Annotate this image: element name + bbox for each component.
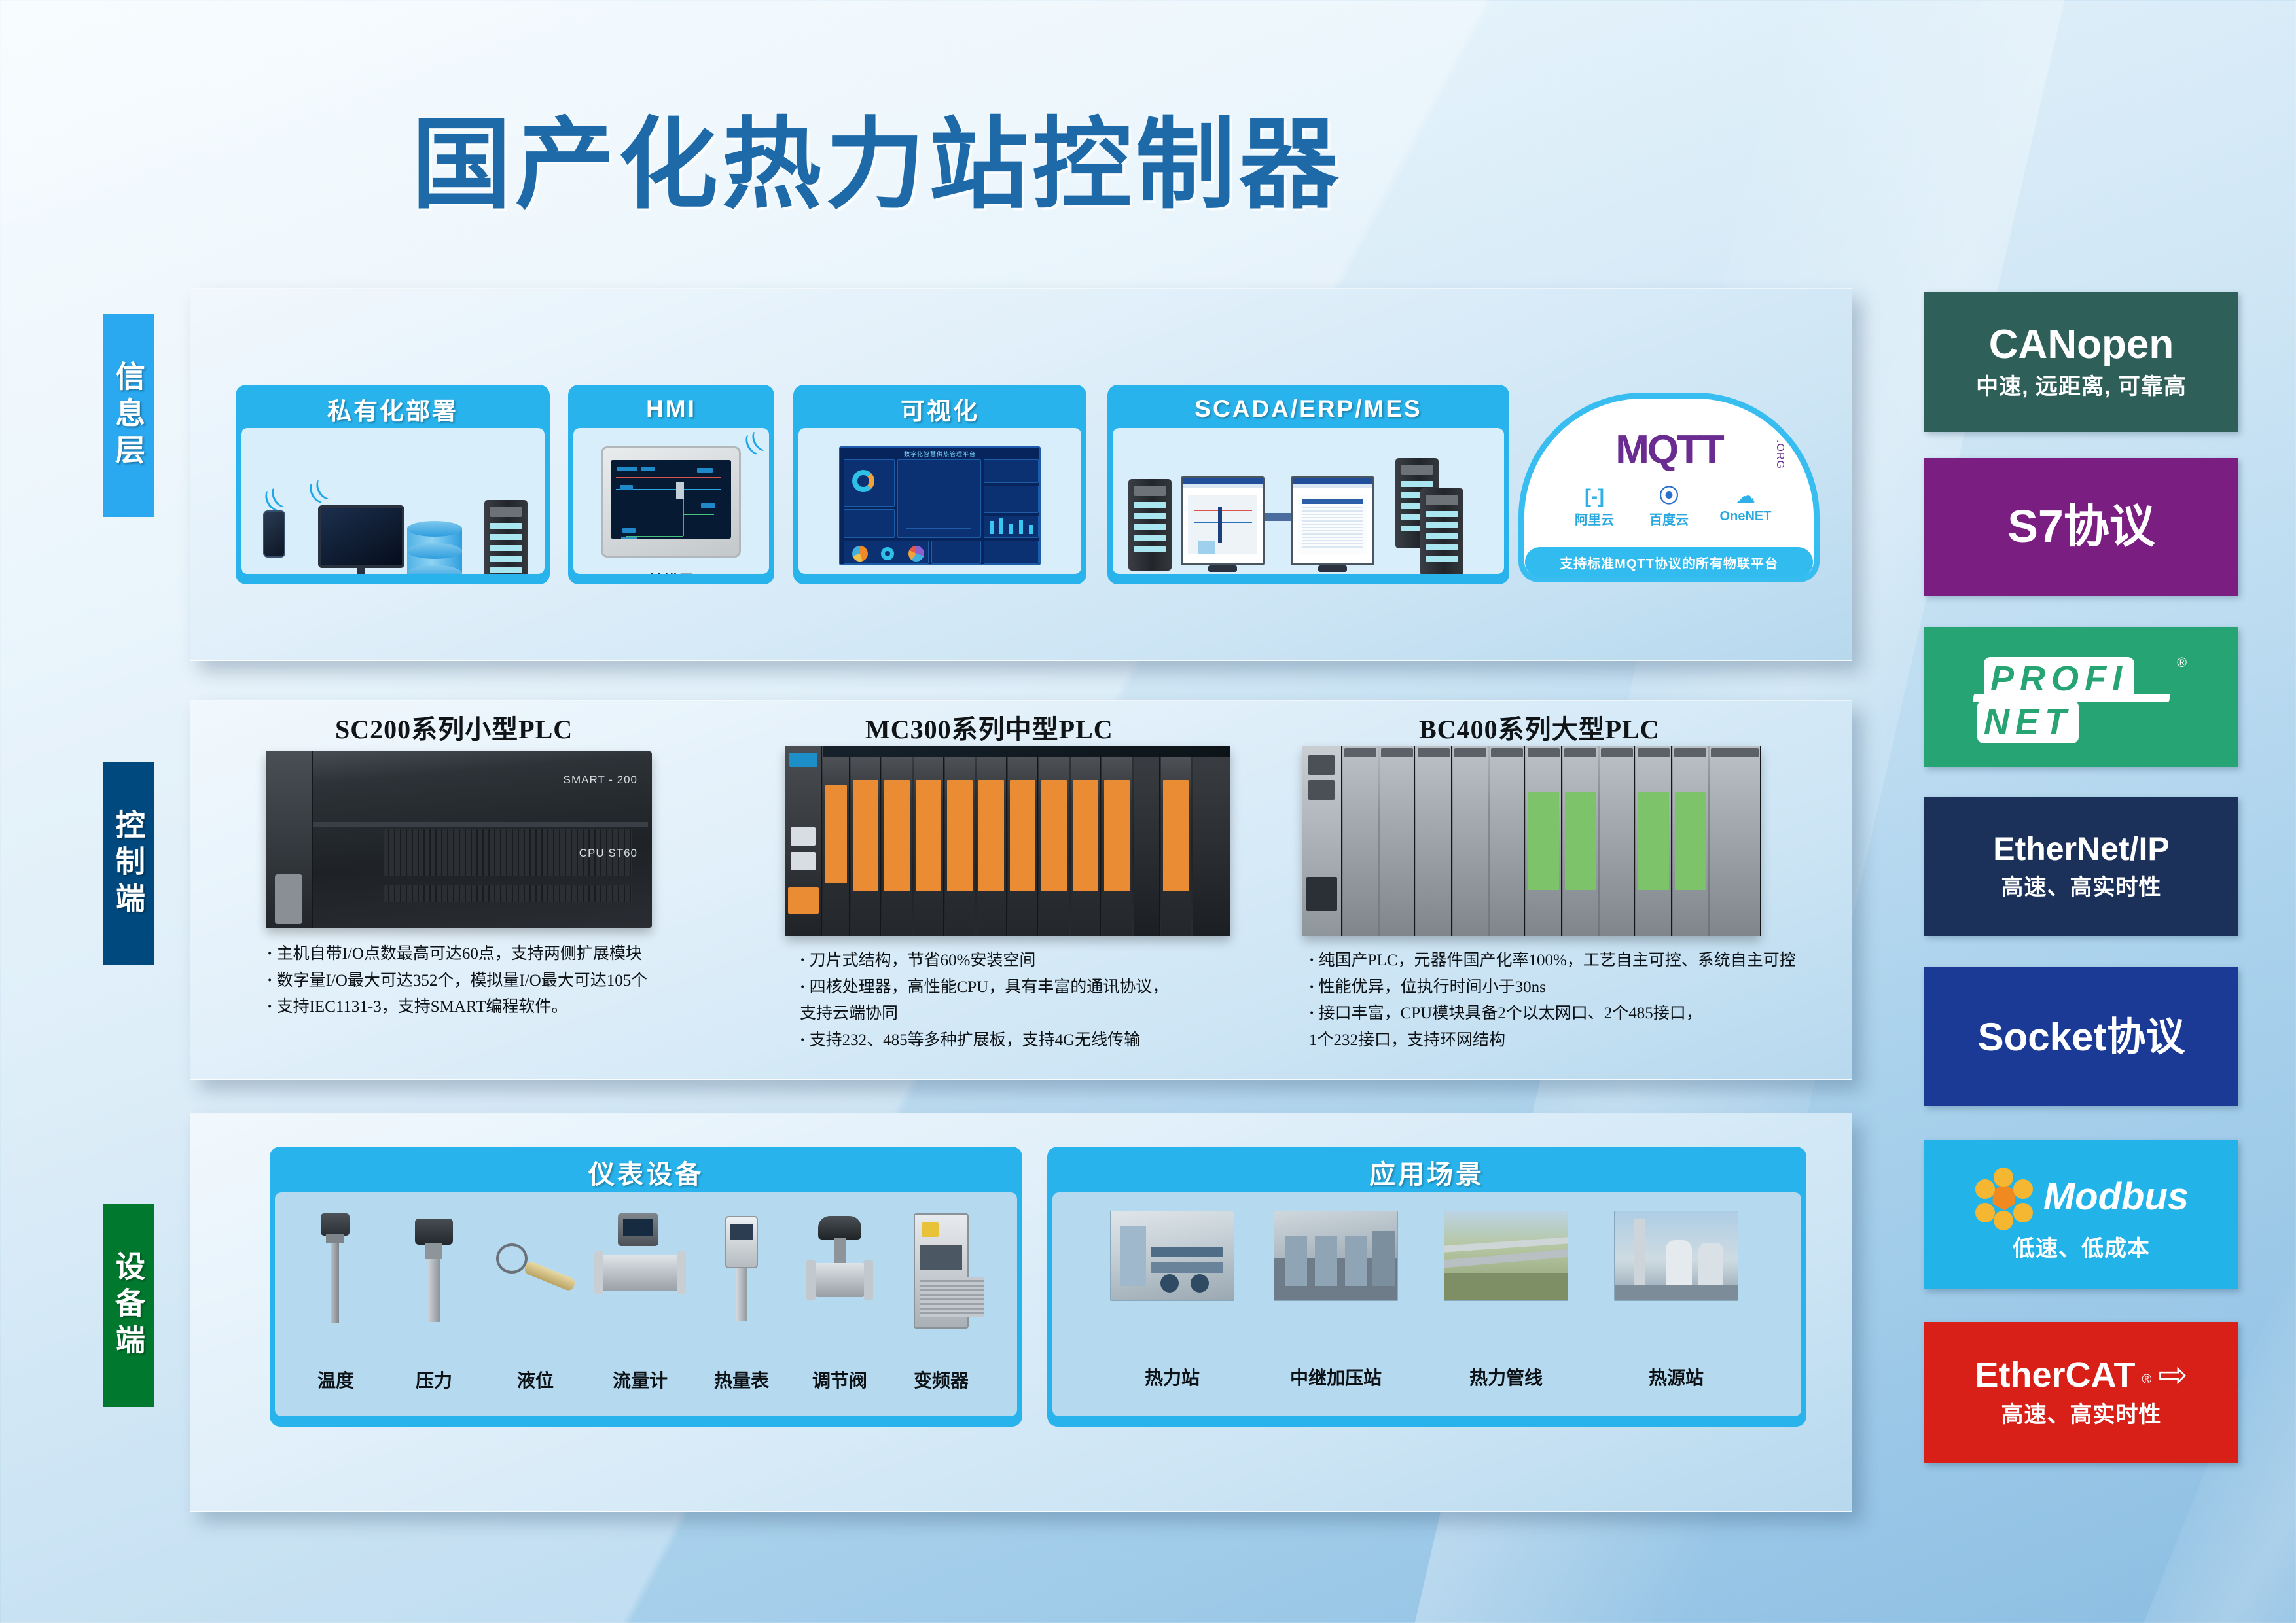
badge-ethercat[interactable]: EtherCAT ® ⇨ 高速、高实时性 [1924,1322,2238,1463]
instrument-label: 热量表 [692,1366,791,1393]
aliyun-platform: [-] 阿里云 [1560,487,1628,528]
mqtt-org-text: .ORG [1774,440,1785,469]
arrow-right-icon: ⇨ [2158,1363,2187,1388]
hmi-screen [611,460,731,539]
modbus-node-icon [1974,1168,2034,1228]
instrument-control-valve: 调节阀 [791,1207,889,1403]
onenet-platform: ☁ OneNET [1710,487,1782,524]
visualization-dashboard: 数字化智慧供热管理平台 [839,446,1041,565]
scenario-photo [1614,1211,1738,1301]
card-visualization-body: 数字化智慧供热管理平台 [798,428,1081,574]
plc-mark-cpu: CPU ST60 [579,847,637,860]
wifi-icon: (( [741,430,764,457]
plc-device-mc300 [785,746,1230,936]
instrument-pressure: 压力 [385,1207,483,1403]
badge-ethercat-sub: 高速、高实时性 [2001,1397,2162,1429]
card-hmi-title: HMI [573,390,769,428]
server-rack-icon [1128,479,1172,571]
instrument-inverter: 变频器 [889,1207,994,1403]
card-scada-erp-mes-title: SCADA/ERP/MES [1113,390,1504,428]
badge-etherip[interactable]: EtherNet/IP 高速、高实时性 [1924,797,2238,936]
badge-modbus[interactable]: Modbus 低速、低成本 [1924,1140,2238,1289]
bullet: 性能优异，位执行时间小于30ns [1309,974,1826,1001]
bullet: 纯国产PLC，元器件国产化率100%，工艺自主可控、系统自主可控 [1309,948,1826,974]
card-private-deployment-title: 私有化部署 [241,390,545,428]
scenario-label: 热力管线 [1431,1364,1581,1390]
plc-title-mc300: MC300系列中型PLC [865,708,1113,746]
scenario-label: 中继加压站 [1261,1364,1411,1390]
scenario-heating-pipeline: 热力管线 [1431,1211,1581,1400]
page-title: 国产化热力站控制器 [0,84,1754,228]
instrument-temperature: 温度 [287,1207,385,1403]
badge-ethercat-logo: EtherCAT ® ⇨ [1975,1357,2187,1394]
badge-s7[interactable]: S7协议 [1924,458,2238,596]
registered-mark-icon: ® [2142,1372,2152,1394]
bullet-continuation: 支持云端协同 [800,1001,1258,1027]
instrument-label: 调节阀 [791,1366,889,1393]
panel-instruments-body: 温度 压力 液位 流量计 热量表 [275,1192,1017,1416]
monitor-stand [1318,565,1347,572]
instrument-label: 温度 [287,1366,385,1393]
monitor-stand [1208,565,1237,572]
scenario-heat-source-station: 热源站 [1601,1211,1751,1400]
wifi-icon: (( [260,486,283,513]
bullet: 主机自带I/O点数最高可达60点，支持两侧扩展模块 [267,941,699,968]
scenario-photo [1444,1211,1568,1301]
scenario-label: 热源站 [1601,1364,1751,1390]
panel-scenarios-title: 应用场景 [1052,1152,1801,1192]
monitor-device-icon [318,505,404,568]
mqtt-cloud[interactable]: MQTT .ORG [-] 阿里云 ⦿ 百度云 ☁ OneNET 支持标准MQT… [1518,393,1820,582]
database-icon [407,521,462,574]
hmi-touch-panel [601,446,741,558]
badge-canopen-sub: 中速, 远距离, 可靠高 [1976,368,2187,401]
badge-modbus-sub: 低速、低成本 [2013,1230,2150,1262]
panel-instruments-title: 仪表设备 [275,1152,1017,1192]
wifi-icon: (( [304,478,328,505]
instrument-label: 液位 [483,1366,588,1393]
layer-tab-device[interactable]: 设备端 [103,1204,154,1407]
server-rack-icon [484,500,528,574]
bullet: 支持232、485等多种扩展板，支持4G无线传输 [800,1027,1258,1054]
server-rack-icon [1420,488,1463,574]
card-visualization-title: 可视化 [798,390,1081,428]
hmi-caption: 触摸屏 [573,568,769,574]
connector-cable [1265,513,1291,521]
plc-device-sc200: SMART - 200 CPU ST60 [266,751,652,928]
badge-modbus-logo: Modbus [1974,1168,2189,1228]
badge-s7-logo: S7协议 [2007,503,2155,551]
badge-etherip-sub: 高速、高实时性 [2001,869,2162,901]
card-visualization[interactable]: 可视化 数字化智慧供热管理平台 [793,385,1086,584]
instrument-label: 压力 [385,1366,483,1393]
remote-monitor [1291,476,1374,565]
badge-canopen[interactable]: CANopen 中速, 远距离, 可靠高 [1924,292,2238,432]
badge-profinet-logo: PROFI ® NET [1973,648,2189,746]
card-private-deployment-body: (( (( 数据库 [241,428,545,574]
badge-etherip-logo: EtherNet/IP [1993,832,2170,866]
plc-mark-smart200: SMART - 200 [564,774,637,787]
panel-scenarios-body: 热力站 中继加压站 热力管线 [1052,1192,1801,1416]
card-private-deployment[interactable]: 私有化部署 (( (( 数据库 [236,385,550,584]
scenario-heating-station: 热力站 [1103,1211,1241,1400]
card-scada-erp-mes-body: SCADA 远程数据监控 ERP/MES [1113,428,1504,574]
plc-device-bc400 [1302,746,1761,936]
scenario-photo [1110,1211,1234,1301]
card-hmi[interactable]: HMI (( 触摸屏 [568,385,774,584]
scada-monitor [1181,476,1265,565]
bullet: 支持IEC1131-3，支持SMART编程软件。 [267,994,699,1021]
dashboard-title: 数字化智慧供热管理平台 [840,448,1039,458]
bullet-continuation: 1个232接口，支持环网结构 [1309,1027,1826,1054]
bullet: 数字量I/O最大可达352个，模拟量I/O最大可达105个 [267,968,699,995]
card-hmi-body: (( 触摸屏 [573,428,769,574]
instrument-flowmeter: 流量计 [588,1207,692,1403]
instrument-heat-meter: 热量表 [692,1207,791,1403]
plc-bullets-mc300: 刀片式结构，节省60%安装空间 四核处理器，高性能CPU，具有丰富的通讯协议， … [800,948,1258,1054]
card-scada-erp-mes[interactable]: SCADA/ERP/MES SCADA 远程数据监控 ER [1107,385,1509,584]
plc-bullets-sc200: 主机自带I/O点数最高可达60点，支持两侧扩展模块 数字量I/O最大可达352个… [267,941,699,1021]
phone-device-icon [263,510,285,558]
mqtt-footer-banner: 支持标准MQTT协议的所有物联平台 [1525,547,1813,577]
scenario-photo [1274,1211,1398,1301]
baiduyun-platform: ⦿ 百度云 [1635,487,1703,528]
badge-profinet[interactable]: PROFI ® NET [1924,627,2238,767]
badge-canopen-logo: CANopen [1989,323,2174,366]
onenet-label: OneNET [1710,509,1782,524]
plc-title-sc200: SC200系列小型PLC [335,708,573,746]
layer-tab-information[interactable]: 信息层 [103,314,154,517]
scenario-relay-pumping-station: 中继加压站 [1261,1211,1411,1400]
instrument-label: 流量计 [588,1366,692,1393]
scenario-label: 热力站 [1103,1364,1241,1390]
baiduyun-label: 百度云 [1635,509,1703,528]
instrument-label: 变频器 [889,1366,994,1393]
bullet: 刀片式结构，节省60%安装空间 [800,948,1258,974]
bullet: 四核处理器，高性能CPU，具有丰富的通讯协议， [800,974,1258,1001]
aliyun-label: 阿里云 [1560,509,1628,528]
plc-bullets-bc400: 纯国产PLC，元器件国产化率100%，工艺自主可控、系统自主可控 性能优异，位执… [1309,948,1826,1054]
monitor-neck [357,568,365,574]
layer-tab-control[interactable]: 控制端 [103,762,154,965]
plc-title-bc400: BC400系列大型PLC [1419,708,1660,746]
panel-instruments[interactable]: 仪表设备 温度 压力 液位 流量计 [270,1147,1022,1427]
badge-socket-logo: Socket协议 [1978,1016,2185,1058]
bullet: 接口丰富，CPU模块具备2个以太网口、2个485接口， [1309,1001,1826,1027]
badge-socket[interactable]: Socket协议 [1924,967,2238,1106]
panel-scenarios[interactable]: 应用场景 热力站 中继加压站 [1047,1147,1806,1427]
instrument-level: 液位 [483,1207,588,1403]
